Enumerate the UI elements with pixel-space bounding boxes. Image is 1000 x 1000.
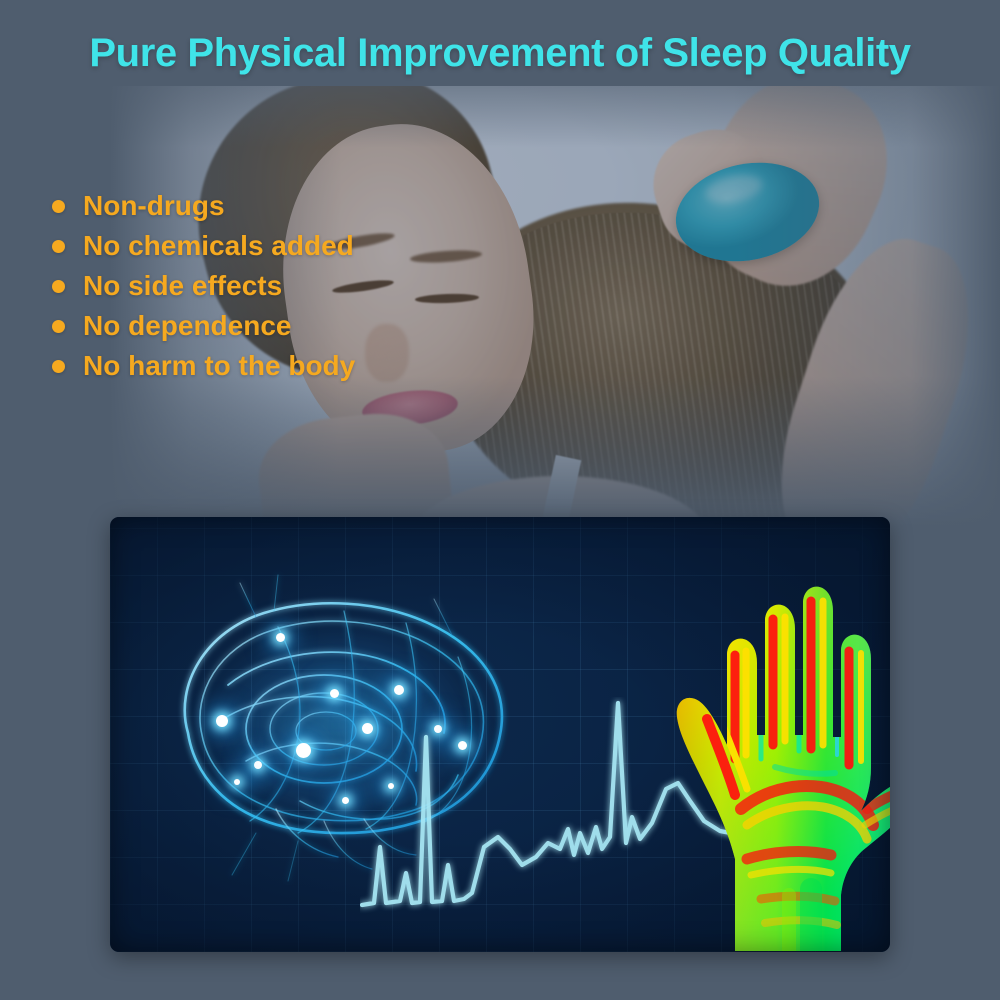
list-item: No chemicals added xyxy=(52,226,355,266)
benefit-label: No dependence xyxy=(83,310,291,342)
brain-node xyxy=(342,797,349,804)
page-title: Pure Physical Improvement of Sleep Quali… xyxy=(0,31,1000,76)
bullet-dot-icon xyxy=(52,280,65,293)
product-infographic: Pure Physical Improvement of Sleep Quali… xyxy=(0,0,1000,1000)
list-item: Non-drugs xyxy=(52,186,355,226)
thermal-imaging-hand xyxy=(615,559,890,952)
benefit-label: No side effects xyxy=(83,270,282,302)
bullet-dot-icon xyxy=(52,360,65,373)
brain-node xyxy=(394,685,404,695)
bullet-dot-icon xyxy=(52,240,65,253)
list-item: No side effects xyxy=(52,266,355,306)
list-item: No harm to the body xyxy=(52,346,355,386)
list-item: No dependence xyxy=(52,306,355,346)
thermal-hand-icon xyxy=(615,559,890,952)
bullet-dot-icon xyxy=(52,200,65,213)
brain-thermal-hand-panel xyxy=(110,517,890,952)
bullet-dot-icon xyxy=(52,320,65,333)
benefits-list: Non-drugs No chemicals added No side eff… xyxy=(52,186,355,386)
brain-node xyxy=(296,743,311,758)
brain-node xyxy=(234,779,240,785)
brain-node xyxy=(330,689,339,698)
benefit-label: No harm to the body xyxy=(83,350,355,382)
brain-node xyxy=(254,761,262,769)
benefit-label: Non-drugs xyxy=(83,190,225,222)
benefit-label: No chemicals added xyxy=(83,230,354,262)
brain-node xyxy=(216,715,228,727)
brain-node xyxy=(276,633,285,642)
